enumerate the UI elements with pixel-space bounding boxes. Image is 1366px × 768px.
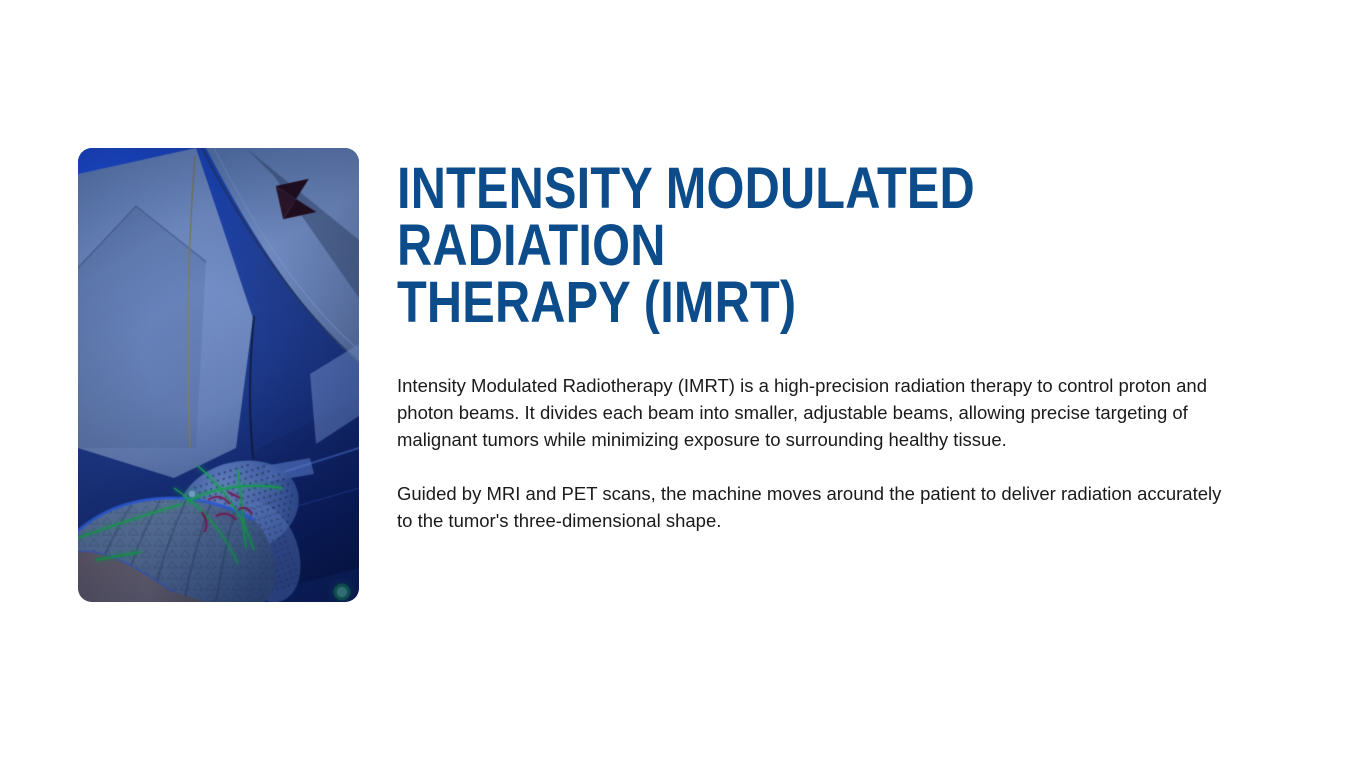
- treatment-photo-image: [78, 148, 359, 602]
- treatment-photo: [78, 148, 359, 602]
- slide-canvas: INTENSITY MODULATED RADIATION THERAPY (I…: [0, 0, 1366, 768]
- page-title: INTENSITY MODULATED RADIATION THERAPY (I…: [397, 160, 1220, 331]
- body-copy: Intensity Modulated Radiotherapy (IMRT) …: [397, 372, 1227, 534]
- paragraph-2: Guided by MRI and PET scans, the machine…: [397, 480, 1227, 534]
- text-column: INTENSITY MODULATED RADIATION THERAPY (I…: [397, 160, 1227, 534]
- paragraph-1: Intensity Modulated Radiotherapy (IMRT) …: [397, 372, 1227, 453]
